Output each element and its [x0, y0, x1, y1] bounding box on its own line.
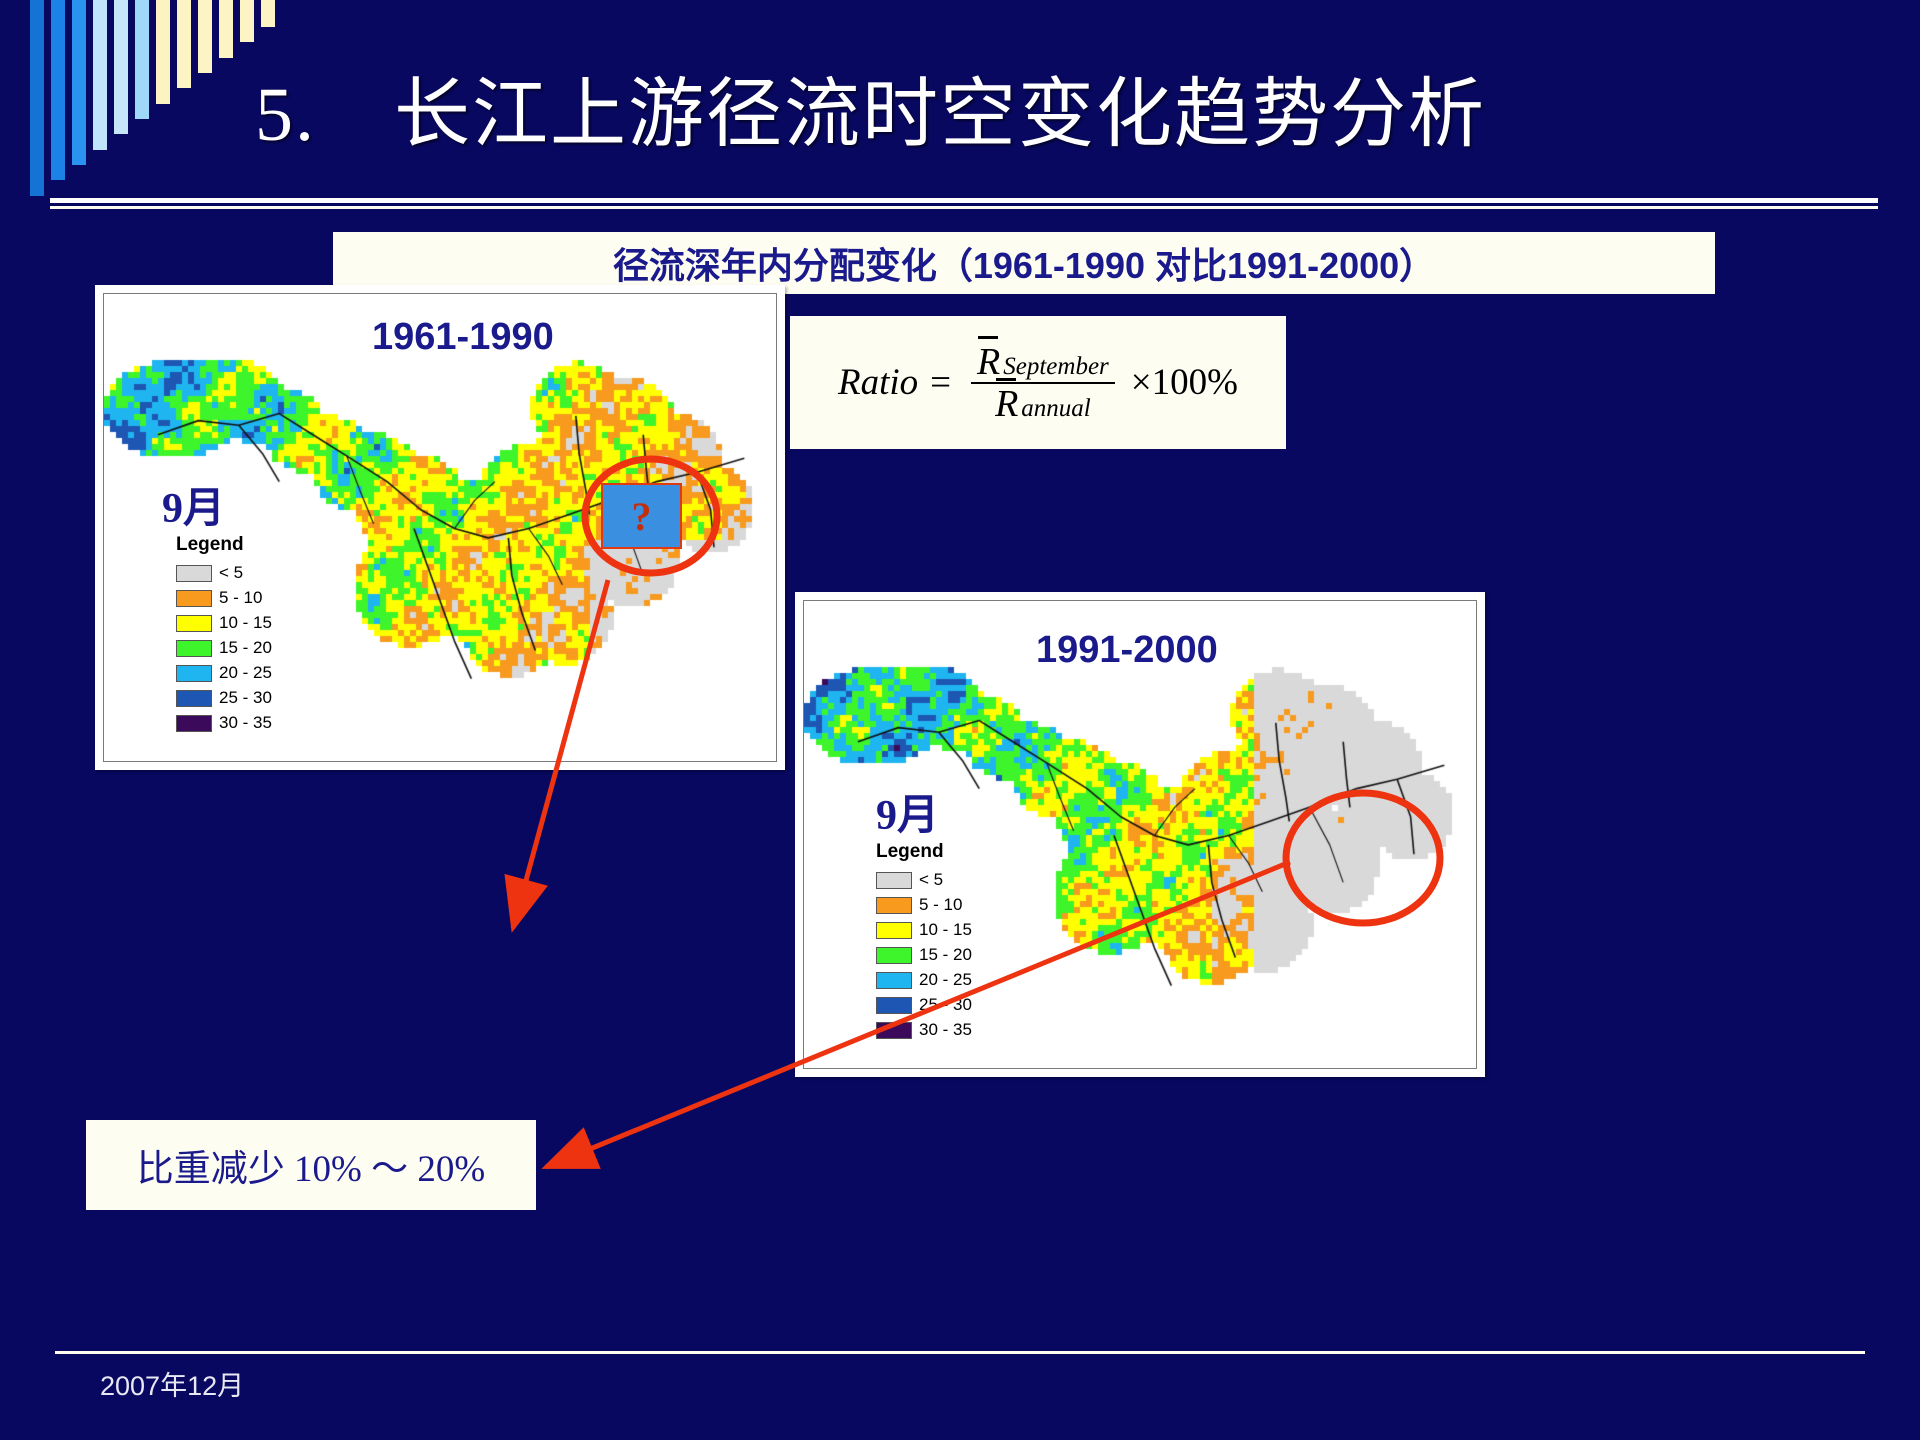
legend-label: 30 - 35 — [219, 713, 272, 733]
formula-denominator: R annual — [989, 384, 1097, 424]
legend-row-5: 25 - 30 — [876, 995, 972, 1015]
slide-root: 5. 长江上游径流时空变化趋势分析 径流深年内分配变化（1961-1990 对比… — [0, 0, 1920, 1440]
legend-row-1: 5 - 10 — [876, 895, 972, 915]
legend-swatch-icon — [176, 665, 212, 682]
legend-swatch-icon — [876, 872, 912, 889]
legend-label: 30 - 35 — [919, 1020, 972, 1040]
legend-swatch-icon — [176, 565, 212, 582]
subtitle-text: 径流深年内分配变化（1961-1990 对比1991-2000） — [613, 237, 1435, 289]
legend-swatch-icon — [876, 922, 912, 939]
legend-row-2: 10 - 15 — [876, 920, 972, 940]
question-marker: ? — [601, 483, 682, 549]
formula-fraction: R September R annual — [971, 342, 1115, 424]
legend-label: 10 - 15 — [919, 920, 972, 940]
legend-swatch-icon — [176, 615, 212, 632]
title-divider-secondary — [50, 206, 1878, 209]
legend-label: < 5 — [219, 563, 243, 583]
legend-swatch-icon — [876, 897, 912, 914]
legend-label: 20 - 25 — [219, 663, 272, 683]
legend-row-4: 20 - 25 — [176, 663, 272, 683]
formula-denominator-subscript: annual — [1018, 395, 1090, 423]
legend-rows: < 55 - 1010 - 1515 - 2020 - 2525 - 3030 … — [876, 870, 972, 1040]
legend-swatch-icon — [876, 1022, 912, 1039]
map-year-label: 1991-2000 — [1036, 629, 1218, 672]
formula-numerator: R September — [971, 342, 1115, 382]
title-area: 5. 长江上游径流时空变化趋势分析 — [0, 0, 1920, 200]
legend-label: 20 - 25 — [919, 970, 972, 990]
footer-date: 2007年12月 — [100, 1364, 244, 1403]
map-legend-1961-1990: Legend < 55 - 1010 - 1515 - 2020 - 2525 … — [176, 534, 272, 738]
formula-multiplier: ×100% — [1123, 361, 1238, 404]
legend-label: 10 - 15 — [219, 613, 272, 633]
formula-denominator-symbol: R — [995, 385, 1018, 423]
legend-row-3: 15 - 20 — [176, 638, 272, 658]
legend-rows: < 55 - 1010 - 1515 - 2020 - 2525 - 3030 … — [176, 563, 272, 733]
map-month-label: 9月 — [162, 474, 225, 535]
ratio-formula: Ratio = R September R annual ×100% — [838, 342, 1238, 424]
legend-label: 15 - 20 — [919, 945, 972, 965]
legend-label: 25 - 30 — [919, 995, 972, 1015]
page-title: 5. 长江上游径流时空变化趋势分析 — [255, 52, 1895, 162]
legend-row-0: < 5 — [176, 563, 272, 583]
footer-divider — [55, 1351, 1865, 1354]
legend-row-2: 10 - 15 — [176, 613, 272, 633]
legend-label: 25 - 30 — [219, 688, 272, 708]
legend-title: Legend — [876, 841, 972, 863]
legend-swatch-icon — [876, 997, 912, 1014]
decrease-callout-text: 比重减少 10% ～ 20% — [137, 1138, 485, 1192]
legend-row-0: < 5 — [876, 870, 972, 890]
legend-swatch-icon — [876, 947, 912, 964]
map-panel-1991-2000-inner: 1991-2000 9月 Legend < 55 - 1010 - 1515 -… — [803, 600, 1477, 1069]
legend-title: Legend — [176, 534, 272, 556]
map-month-label: 9月 — [876, 781, 939, 842]
map-panel-1991-2000: 1991-2000 9月 Legend < 55 - 1010 - 1515 -… — [795, 592, 1485, 1077]
legend-label: 15 - 20 — [219, 638, 272, 658]
legend-swatch-icon — [176, 690, 212, 707]
map-year-label: 1961-1990 — [372, 316, 554, 359]
legend-swatch-icon — [176, 590, 212, 607]
legend-swatch-icon — [876, 972, 912, 989]
ratio-formula-box: Ratio = R September R annual ×100% — [790, 316, 1286, 449]
formula-numerator-symbol: R — [977, 343, 1000, 381]
legend-row-3: 15 - 20 — [876, 945, 972, 965]
legend-row-6: 30 - 35 — [876, 1020, 972, 1040]
legend-row-5: 25 - 30 — [176, 688, 272, 708]
legend-swatch-icon — [176, 640, 212, 657]
question-marker-label: ? — [632, 493, 652, 540]
legend-row-6: 30 - 35 — [176, 713, 272, 733]
legend-row-4: 20 - 25 — [876, 970, 972, 990]
legend-swatch-icon — [176, 715, 212, 732]
map-legend-1991-2000: Legend < 55 - 1010 - 1515 - 2020 - 2525 … — [876, 841, 972, 1045]
legend-label: < 5 — [919, 870, 943, 890]
formula-equals: = — [918, 361, 963, 404]
legend-row-1: 5 - 10 — [176, 588, 272, 608]
legend-label: 5 - 10 — [919, 895, 962, 915]
decrease-callout-box: 比重减少 10% ～ 20% — [86, 1120, 536, 1210]
legend-label: 5 - 10 — [219, 588, 262, 608]
formula-lhs: Ratio — [838, 361, 918, 404]
title-divider — [50, 198, 1878, 203]
formula-numerator-subscript: September — [1000, 353, 1109, 381]
